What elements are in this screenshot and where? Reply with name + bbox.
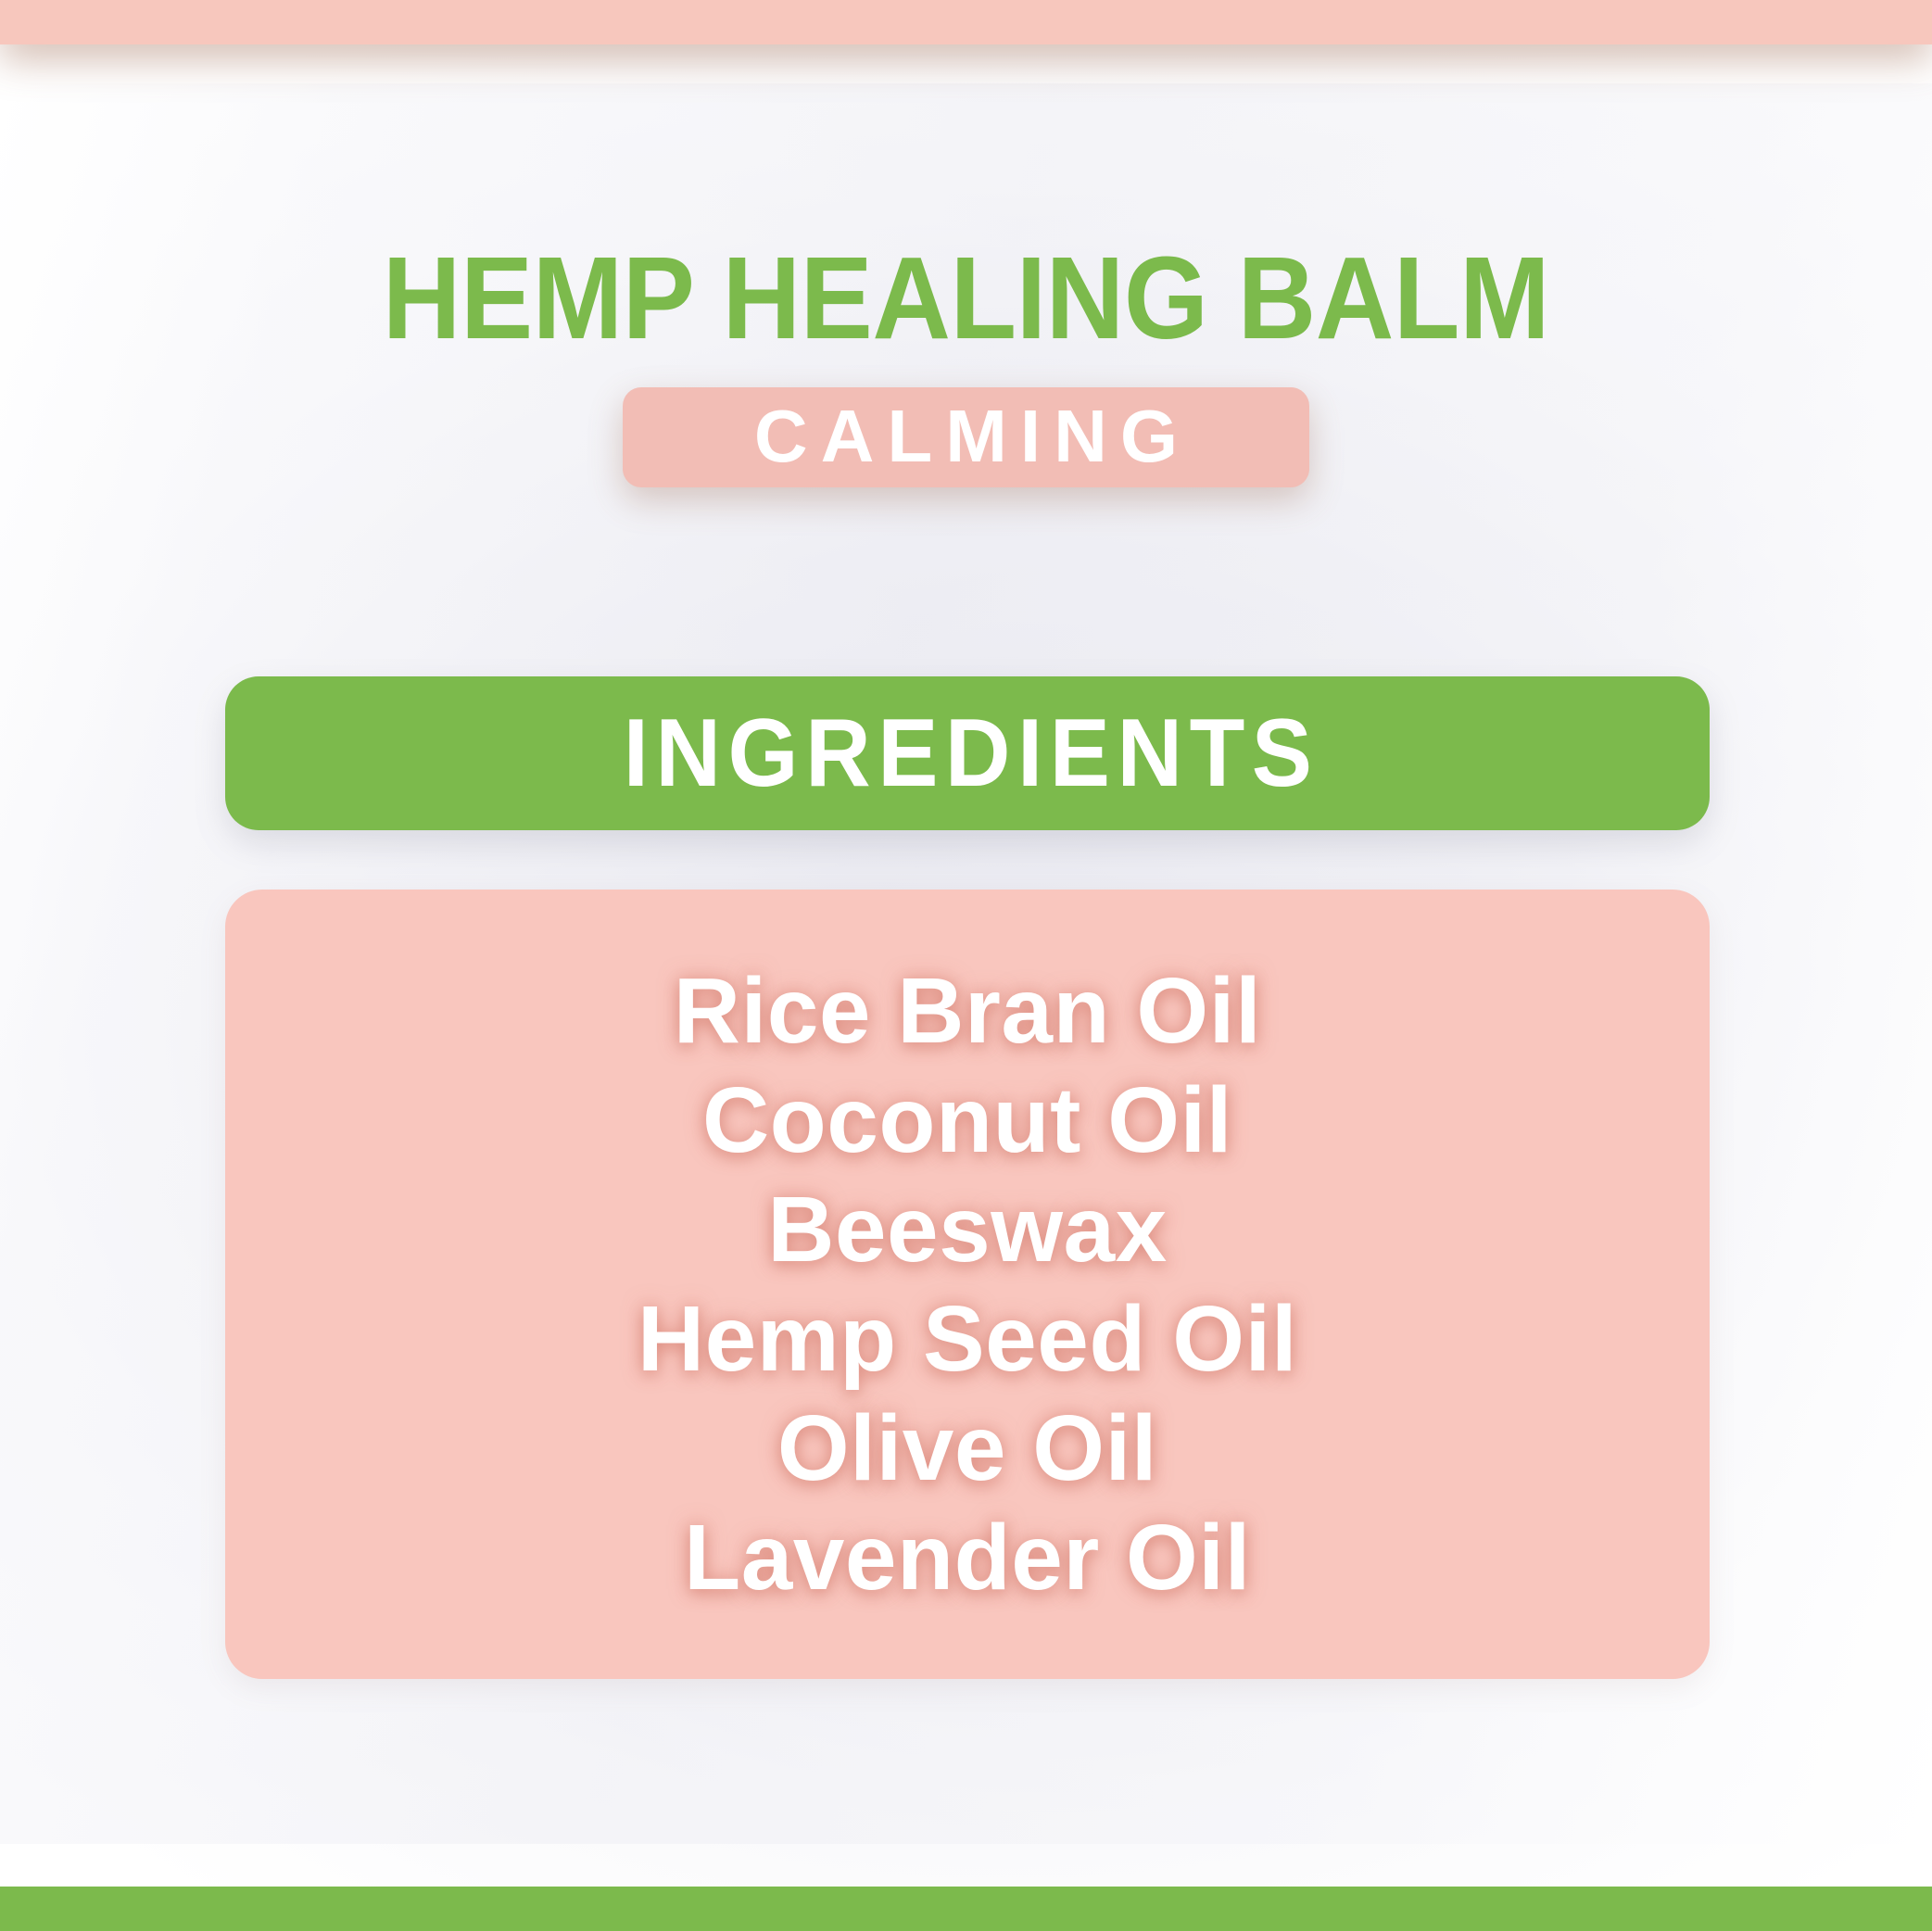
list-item: Hemp Seed Oil (638, 1284, 1297, 1394)
ingredients-panel: Rice Bran Oil Coconut Oil Beeswax Hemp S… (225, 890, 1710, 1679)
ingredients-heading: INGREDIENTS (616, 705, 1319, 801)
top-pink-accent-bar (0, 0, 1932, 44)
list-item: Lavender Oil (638, 1503, 1297, 1612)
variant-badge: CALMING (623, 387, 1309, 487)
list-item: Olive Oil (638, 1394, 1297, 1503)
page-title: HEMP HEALING BALM (68, 240, 1864, 357)
ingredients-list: Rice Bran Oil Coconut Oil Beeswax Hemp S… (638, 956, 1297, 1612)
variant-badge-row: CALMING (0, 387, 1932, 487)
product-label-canvas: HEMP HEALING BALM CALMING INGREDIENTS Ri… (0, 0, 1932, 1931)
list-item: Beeswax (638, 1175, 1297, 1284)
bottom-green-accent-bar (0, 1887, 1932, 1931)
ingredients-section-banner: INGREDIENTS (225, 676, 1710, 830)
list-item: Rice Bran Oil (638, 956, 1297, 1066)
list-item: Coconut Oil (638, 1066, 1297, 1175)
